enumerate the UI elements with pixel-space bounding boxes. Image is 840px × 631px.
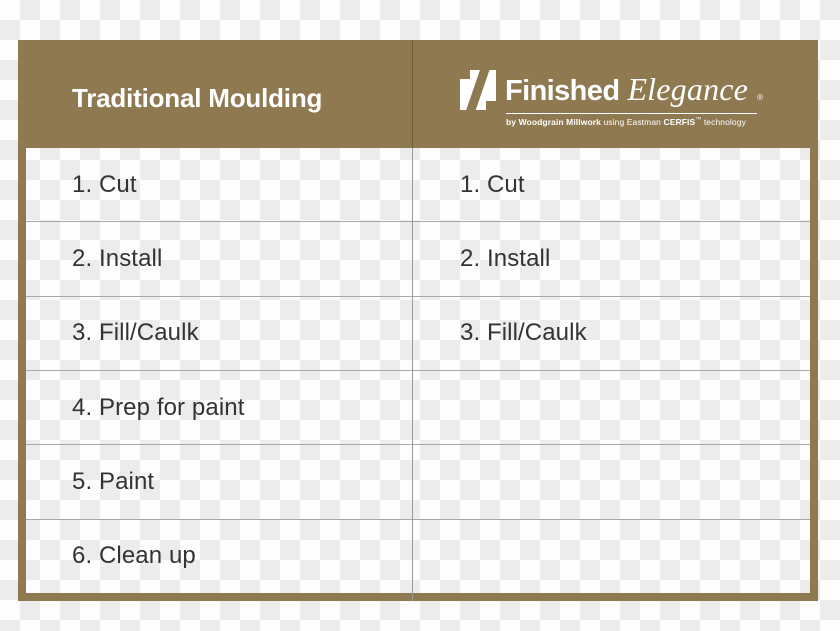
tagline-using-eastman: using Eastman [603,117,661,127]
step-row: 4. Prep for paint [26,371,418,445]
tagline-woodgrain: by Woodgrain Millwork [506,117,601,127]
step-label: 1. Cut [460,171,525,199]
step-label: 5. Paint [72,468,154,496]
step-row: 3. Fill/Caulk [26,297,418,371]
trademark-icon: ™ [695,117,701,123]
comparison-graphic: Traditional Moulding Finished Elegance [0,0,840,631]
brand-row: Finished Elegance ® [460,70,763,110]
card-body: 1. Cut 2. Install 3. Fill/Caulk 4. Prep … [26,148,810,593]
finished-elegance-n-mark-icon [460,70,496,110]
registered-trademark-icon: ® [757,94,763,102]
step-label: 4. Prep for paint [72,394,244,422]
column-divider-header [412,40,413,148]
tagline-cerfis: CERFIS [663,117,695,127]
step-row: 3. Fill/Caulk [418,297,810,371]
step-row: 1. Cut [418,148,810,222]
column-finished-elegance: 1. Cut 2. Install 3. Fill/Caulk [418,148,810,593]
page-title: Traditional Moulding [72,83,322,114]
brand-underline-rule [506,113,757,114]
brand-word-finished: Finished [505,77,619,106]
card-header: Traditional Moulding Finished Elegance [26,48,810,148]
step-label: 6. Clean up [72,542,196,570]
step-label: 3. Fill/Caulk [460,319,587,347]
step-row: 6. Clean up [26,520,418,593]
brand-wordmark: Finished Elegance ® [505,73,763,106]
step-label: 2. Install [460,245,550,273]
step-label: 1. Cut [72,171,137,199]
column-traditional-moulding: 1. Cut 2. Install 3. Fill/Caulk 4. Prep … [26,148,418,593]
step-row-empty [418,445,810,519]
brand-lockup: Finished Elegance ® by Woodgrain Millwor… [460,70,763,126]
step-row: 2. Install [418,222,810,296]
step-label: 2. Install [72,245,162,273]
brand-tagline: by Woodgrain Millwork using Eastman CERF… [506,117,763,126]
header-cell-traditional: Traditional Moulding [26,48,418,148]
brand-word-elegance: Elegance [627,73,748,105]
header-cell-brand: Finished Elegance ® by Woodgrain Millwor… [418,48,810,148]
comparison-card: Traditional Moulding Finished Elegance [18,40,818,601]
step-label: 3. Fill/Caulk [72,319,199,347]
tagline-technology: technology [704,117,746,127]
step-row: 5. Paint [26,445,418,519]
step-row-empty [418,520,810,593]
step-row: 2. Install [26,222,418,296]
step-row: 1. Cut [26,148,418,222]
step-row-empty [418,371,810,445]
